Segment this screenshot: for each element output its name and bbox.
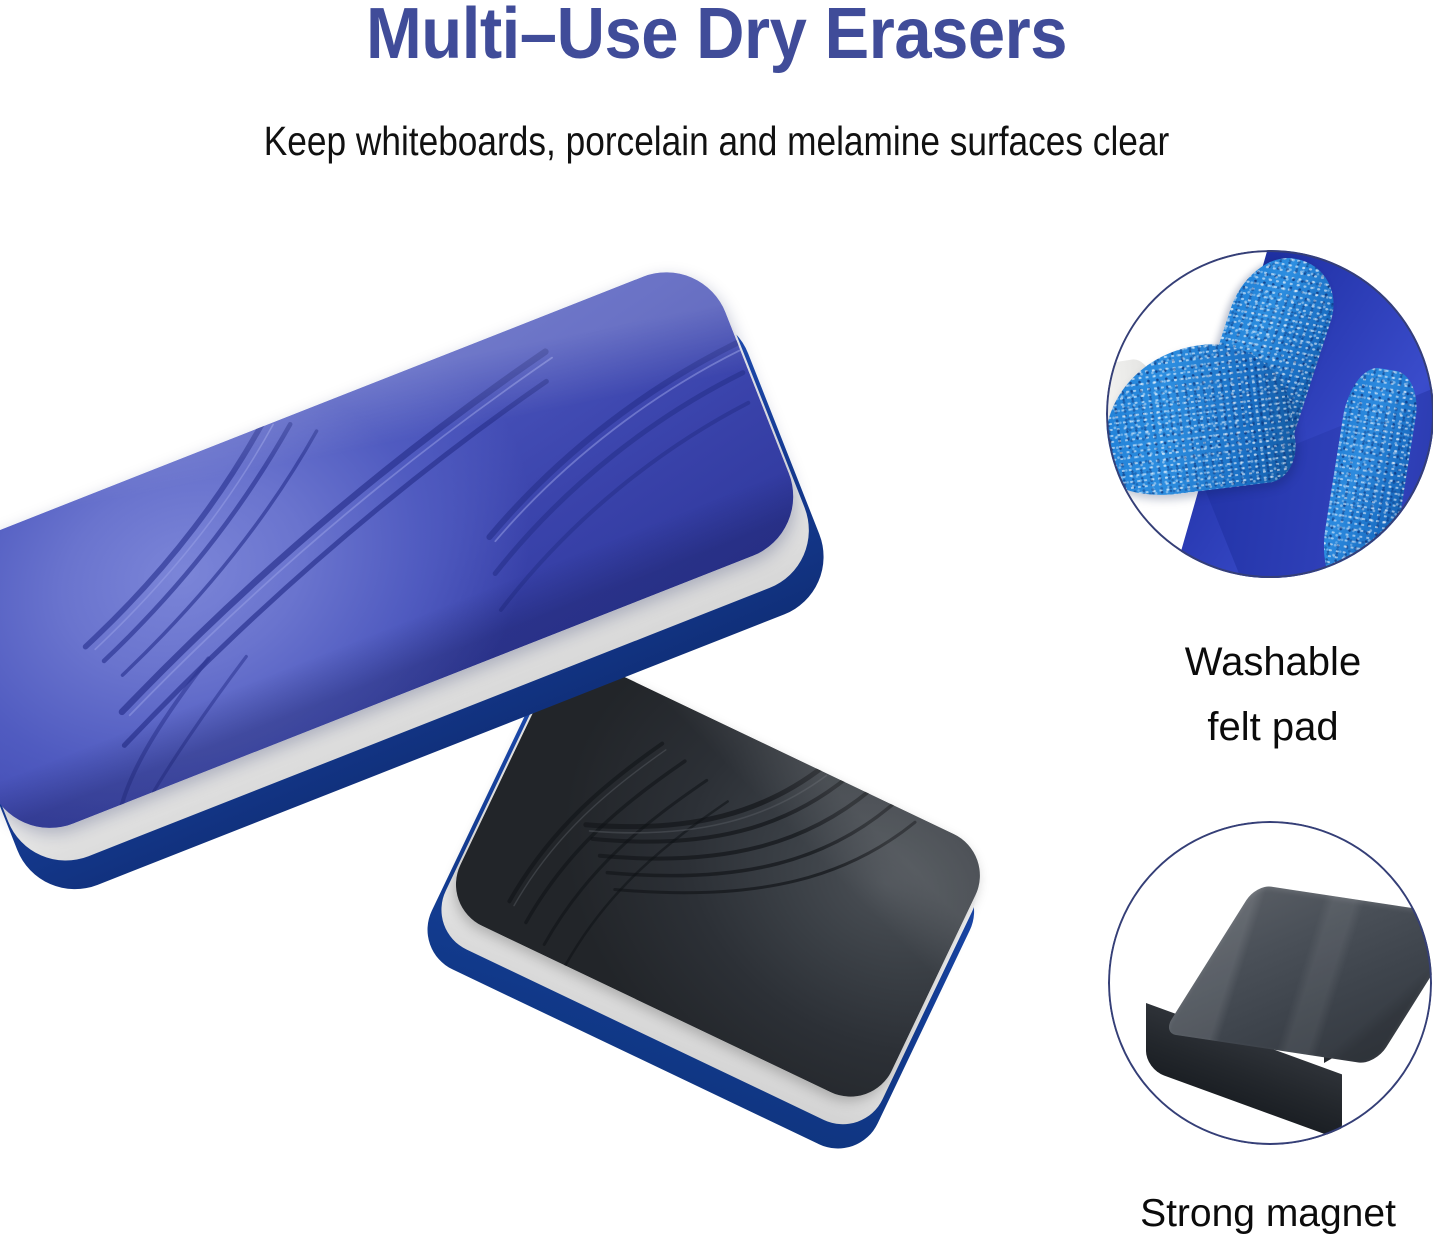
magnet-photo	[1108, 821, 1432, 1145]
callout-felt-pad	[1106, 250, 1433, 578]
callout-magnet-label: Strong magnet	[1098, 1182, 1433, 1245]
felt-pad-photo	[1106, 250, 1433, 578]
page-title: Multi–Use Dry Erasers	[50, 0, 1383, 74]
product-photo	[0, 400, 1080, 1230]
callout-strong-magnet	[1108, 821, 1432, 1145]
callout-felt-label: Washable felt pad	[1108, 630, 1433, 760]
magnet-top-face	[1163, 884, 1432, 1065]
page-subtitle: Keep whiteboards, porcelain and melamine…	[100, 118, 1332, 165]
